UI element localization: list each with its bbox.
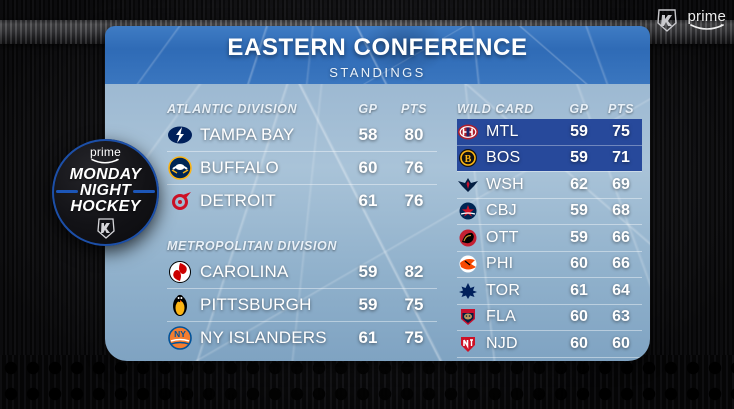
team-name: NJD xyxy=(486,335,558,353)
philadelphia-flyers-logo xyxy=(457,254,479,274)
team-pts: 71 xyxy=(600,149,642,167)
montreal-canadiens-logo xyxy=(457,122,479,142)
table-row[interactable]: BUFFALO 60 76 xyxy=(167,151,437,184)
table-row[interactable]: NJD 60 60 xyxy=(457,330,642,357)
team-pts: 82 xyxy=(391,262,437,282)
team-pts: 60 xyxy=(600,335,642,353)
team-name: DETROIT xyxy=(200,191,345,211)
carolina-hurricanes-logo xyxy=(167,260,193,284)
tampa-bay-lightning-logo xyxy=(167,123,193,147)
table-row[interactable]: WSH 62 69 xyxy=(457,171,642,198)
column-header-gp: GP xyxy=(345,102,391,116)
team-gp: 61 xyxy=(345,191,391,211)
nhl-shield-icon xyxy=(656,8,678,32)
team-pts: 76 xyxy=(391,191,437,211)
column-header-pts: PTS xyxy=(600,102,642,116)
team-gp: 61 xyxy=(558,282,600,300)
prime-smile-icon xyxy=(91,158,119,165)
table-row[interactable]: FLA 60 63 xyxy=(457,304,642,331)
pittsburgh-penguins-logo xyxy=(167,293,193,317)
team-name: OTT xyxy=(486,229,558,247)
team-name: MTL xyxy=(486,123,558,141)
team-name: BUFFALO xyxy=(200,158,345,178)
table-row[interactable]: PITTSBURGH 59 75 xyxy=(167,288,437,321)
division-name: ATLANTIC DIVISION xyxy=(167,102,345,116)
team-gp: 58 xyxy=(345,125,391,145)
broadcast-logos: prime xyxy=(656,8,726,32)
team-pts: 75 xyxy=(391,295,437,315)
new-york-rangers-logo xyxy=(457,360,479,361)
team-name: WSH xyxy=(486,176,558,194)
team-gp: 60 xyxy=(558,255,600,273)
team-name: TOR xyxy=(486,282,558,300)
team-gp: 60 xyxy=(345,158,391,178)
team-pts: 63 xyxy=(600,308,642,326)
team-name: NY ISLANDERS xyxy=(200,328,345,348)
badge-line-3: HOCKEY xyxy=(70,199,140,215)
washington-capitals-logo xyxy=(457,175,479,195)
division-rows-atlantic: TAMPA BAY 58 80 BUFFALO 60 76 DE xyxy=(167,119,437,217)
division-header-atlantic: ATLANTIC DIVISION GP PTS xyxy=(167,94,437,116)
team-pts: 68 xyxy=(600,202,642,220)
table-row[interactable]: PHI 60 66 xyxy=(457,251,642,278)
team-pts: 75 xyxy=(391,328,437,348)
prime-text: prime xyxy=(90,147,121,158)
division-spacer xyxy=(167,217,437,231)
division-rows-metropolitan: CAROLINA 59 82 PITTSBURGH 59 75 NY xyxy=(167,256,437,354)
florida-panthers-logo xyxy=(457,307,479,327)
team-name: BOS xyxy=(486,149,558,167)
table-row[interactable]: MTL 59 75 xyxy=(457,119,642,145)
wild-card-header: WILD CARD GP PTS xyxy=(457,94,642,116)
badge-ring-right xyxy=(133,190,155,193)
team-gp: 59 xyxy=(345,262,391,282)
team-name: PITTSBURGH xyxy=(200,295,345,315)
team-gp: 59 xyxy=(345,295,391,315)
team-pts: 69 xyxy=(600,176,642,194)
table-row[interactable]: OTT 59 66 xyxy=(457,224,642,251)
toronto-maple-leafs-logo xyxy=(457,281,479,301)
table-row[interactable]: TAMPA BAY 58 80 xyxy=(167,119,437,151)
team-gp: 62 xyxy=(558,176,600,194)
team-name: PHI xyxy=(486,255,558,273)
badge-line-2: NIGHT xyxy=(80,183,131,199)
team-pts: 76 xyxy=(391,158,437,178)
team-name: FLA xyxy=(486,308,558,326)
team-pts: 64 xyxy=(600,282,642,300)
team-gp: 61 xyxy=(345,328,391,348)
team-gp: 59 xyxy=(558,123,600,141)
team-gp: 60 xyxy=(558,308,600,326)
nhl-shield-icon xyxy=(96,217,116,239)
badge-prime-logo: prime xyxy=(90,147,121,165)
wild-card-column: WILD CARD GP PTS MTL 59 75 B BOS xyxy=(457,94,642,361)
prime-wordmark: prime xyxy=(687,10,726,31)
column-header-gp: GP xyxy=(558,102,600,116)
new-york-islanders-logo: NY xyxy=(167,326,193,350)
boston-bruins-logo: B xyxy=(457,148,479,168)
svg-text:NY: NY xyxy=(174,329,186,339)
new-jersey-devils-logo xyxy=(457,334,479,354)
table-row[interactable]: CBJ 59 68 xyxy=(457,198,642,225)
team-pts: 80 xyxy=(391,125,437,145)
team-pts: 66 xyxy=(600,229,642,247)
team-name: CBJ xyxy=(486,202,558,220)
team-pts: 66 xyxy=(600,255,642,273)
badge-ring-left xyxy=(56,190,78,193)
table-row[interactable]: B BOS 59 71 xyxy=(457,145,642,172)
table-row[interactable]: DETROIT 61 76 xyxy=(167,184,437,217)
division-standings-column: ATLANTIC DIVISION GP PTS TAMPA BAY 58 80 xyxy=(167,94,437,354)
badge-line-1: MONDAY xyxy=(70,167,142,183)
team-gp: 60 xyxy=(558,335,600,353)
wild-card-label: WILD CARD xyxy=(457,102,558,116)
buffalo-sabres-logo xyxy=(167,156,193,180)
wild-card-rows: MTL 59 75 B BOS 59 71 WSH xyxy=(457,119,642,361)
prime-text: prime xyxy=(687,10,726,23)
standings-columns: ATLANTIC DIVISION GP PTS TAMPA BAY 58 80 xyxy=(105,26,650,361)
table-row[interactable]: NYR 60 54 xyxy=(457,357,642,362)
division-header-metropolitan: METROPOLITAN DIVISION xyxy=(167,231,437,253)
table-row[interactable]: NY NY ISLANDERS 61 75 xyxy=(167,321,437,354)
columbus-blue-jackets-logo xyxy=(457,201,479,221)
division-name: METROPOLITAN DIVISION xyxy=(167,239,345,253)
team-gp: 59 xyxy=(558,229,600,247)
team-gp: 59 xyxy=(558,149,600,167)
monday-night-hockey-badge[interactable]: prime MONDAY NIGHT HOCKEY xyxy=(52,139,159,246)
table-row[interactable]: TOR 61 64 xyxy=(457,277,642,304)
team-name: TAMPA BAY xyxy=(200,125,345,145)
standings-panel: EASTERN CONFERENCE STANDINGS ATLANTIC DI… xyxy=(105,26,650,361)
detroit-red-wings-logo xyxy=(167,189,193,213)
ottawa-senators-logo xyxy=(457,228,479,248)
team-name: CAROLINA xyxy=(200,262,345,282)
team-pts: 75 xyxy=(600,123,642,141)
prime-smile-icon xyxy=(690,23,724,31)
svg-text:B: B xyxy=(465,154,472,165)
table-row[interactable]: CAROLINA 59 82 xyxy=(167,256,437,288)
team-gp: 59 xyxy=(558,202,600,220)
column-header-pts: PTS xyxy=(391,102,437,116)
